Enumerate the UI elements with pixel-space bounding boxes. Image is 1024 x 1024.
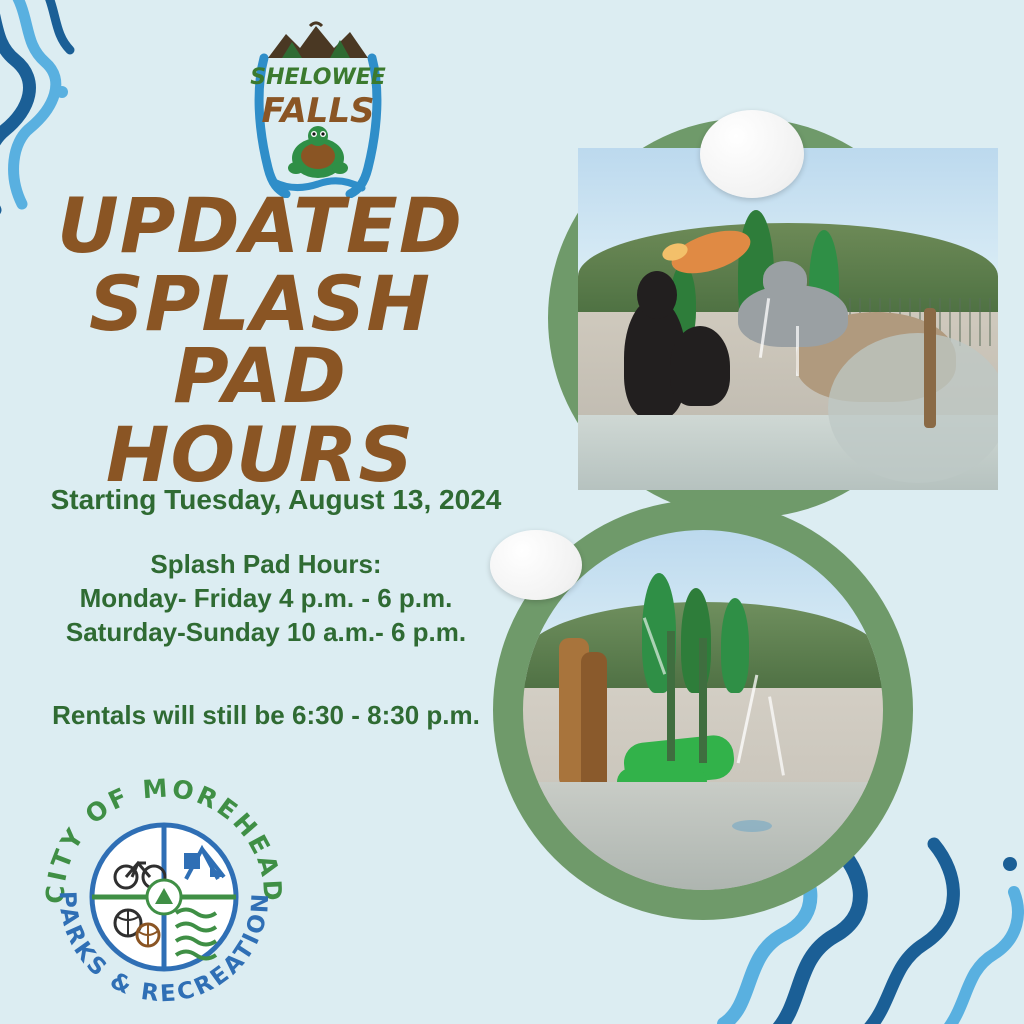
photo-splash-pad-play-structure	[523, 530, 883, 890]
hours-block: Splash Pad Hours: Monday- Friday 4 p.m. …	[6, 548, 526, 649]
hours-weekend: Saturday-Sunday 10 a.m.- 6 p.m.	[6, 616, 526, 650]
city-of-morehead-parks-and-recreation-seal: CITY OF MOREHEAD PARKS & RECREATION	[24, 762, 304, 1012]
headline-line-1: UPDATED	[0, 190, 520, 262]
hours-title: Splash Pad Hours:	[6, 548, 526, 582]
headline-line-3: HOURS	[0, 419, 520, 491]
logo-line2: FALLS	[262, 91, 375, 131]
logo-line1: SHELOWEE	[250, 65, 386, 90]
headline-line-2: SPLASH PAD	[0, 268, 520, 412]
starting-date-text: Starting Tuesday, August 13, 2024	[6, 484, 546, 516]
shelowee-falls-logo: SHELOWEE FALLS	[238, 18, 398, 198]
white-disc-decoration	[490, 530, 582, 600]
poster-canvas: SHELOWEE FALLS UPDATED SPLASH PAD HOURS …	[0, 0, 1024, 1024]
rentals-text: Rentals will still be 6:30 - 8:30 p.m.	[6, 700, 526, 731]
white-disc-decoration	[700, 110, 804, 198]
hours-weekday: Monday- Friday 4 p.m. - 6 p.m.	[6, 582, 526, 616]
page-title: UPDATED SPLASH PAD HOURS	[0, 190, 520, 491]
photo-splash-pad-animal-sculptures	[578, 148, 998, 490]
